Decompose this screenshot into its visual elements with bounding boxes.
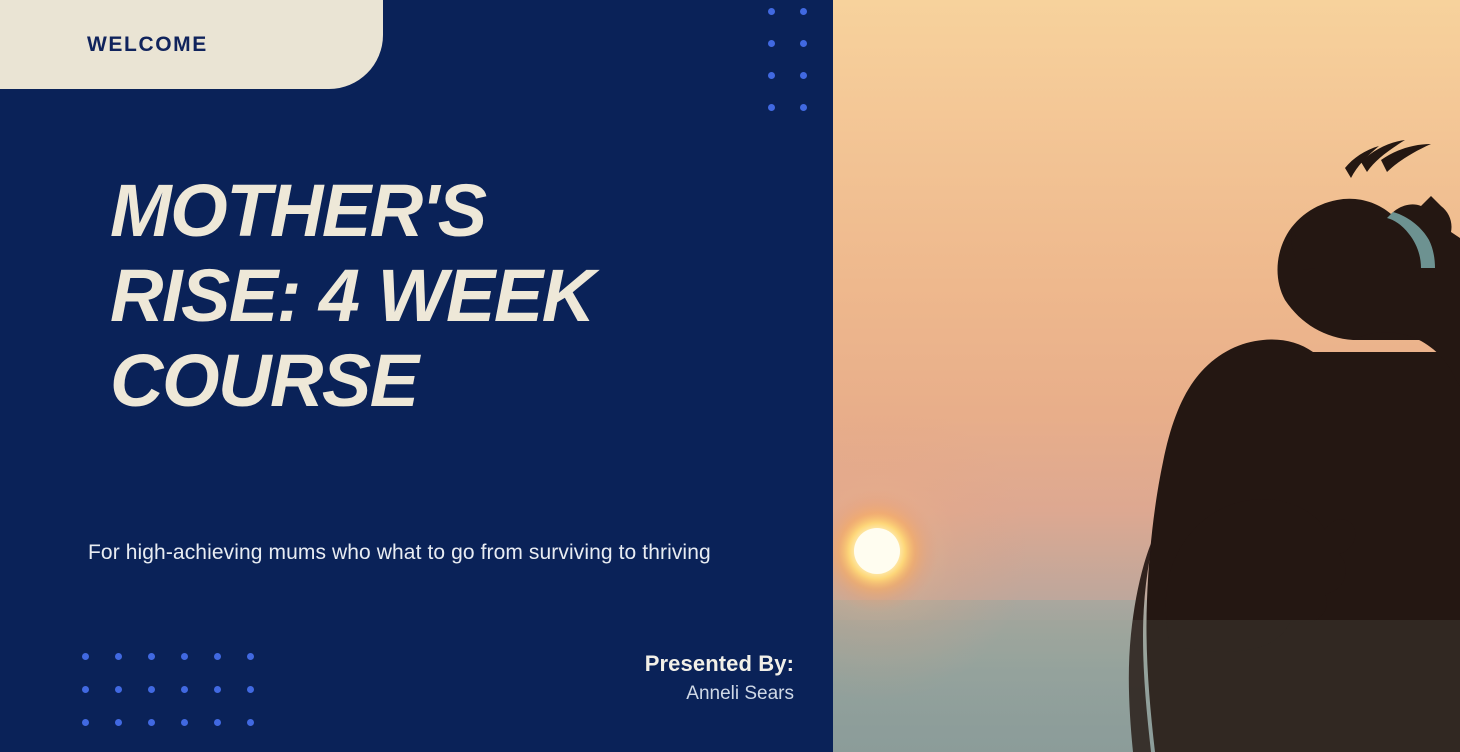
- decorative-dot: [181, 719, 188, 726]
- decorative-dot: [115, 653, 122, 660]
- welcome-label: WELCOME: [87, 33, 208, 57]
- presenter-name: Anneli Sears: [645, 680, 794, 707]
- welcome-badge: WELCOME: [0, 0, 383, 89]
- decorative-dot: [82, 719, 89, 726]
- decorative-dot: [148, 719, 155, 726]
- hero-photo: [833, 0, 1460, 752]
- presentation-slide: WELCOME MOTHER'S RISE: 4 WEEK COURSE For…: [0, 0, 1460, 752]
- dot-grid-bottom-left: [82, 653, 280, 752]
- title-line-1: MOTHER'S: [110, 168, 810, 253]
- decorative-dot: [214, 719, 221, 726]
- decorative-dot: [800, 104, 807, 111]
- title-line-3: COURSE: [110, 338, 810, 423]
- decorative-dot: [800, 72, 807, 79]
- title-line-2: RISE: 4 WEEK: [110, 253, 810, 338]
- decorative-dot: [214, 686, 221, 693]
- decorative-dot: [148, 653, 155, 660]
- sun-core: [854, 528, 900, 574]
- decorative-dot: [800, 8, 807, 15]
- decorative-dot: [181, 653, 188, 660]
- decorative-dot: [768, 72, 775, 79]
- dot-grid-top-right: [768, 8, 832, 136]
- decorative-dot: [768, 8, 775, 15]
- decorative-dot: [82, 653, 89, 660]
- decorative-dot: [115, 719, 122, 726]
- decorative-dot: [768, 40, 775, 47]
- horizon-haze: [833, 620, 1460, 752]
- decorative-dot: [247, 686, 254, 693]
- decorative-dot: [82, 686, 89, 693]
- decorative-dot: [115, 686, 122, 693]
- decorative-dot: [214, 653, 221, 660]
- left-content-panel: WELCOME MOTHER'S RISE: 4 WEEK COURSE For…: [0, 0, 833, 752]
- decorative-dot: [247, 719, 254, 726]
- decorative-dot: [148, 686, 155, 693]
- decorative-dot: [768, 104, 775, 111]
- presented-by-label: Presented By:: [645, 650, 794, 678]
- sunset-silhouette-illustration: [833, 0, 1460, 752]
- decorative-dot: [800, 40, 807, 47]
- slide-subtitle: For high-achieving mums who what to go f…: [88, 541, 711, 565]
- presenter-block: Presented By: Anneli Sears: [645, 650, 794, 707]
- slide-title: MOTHER'S RISE: 4 WEEK COURSE: [110, 168, 810, 423]
- decorative-dot: [181, 686, 188, 693]
- decorative-dot: [247, 653, 254, 660]
